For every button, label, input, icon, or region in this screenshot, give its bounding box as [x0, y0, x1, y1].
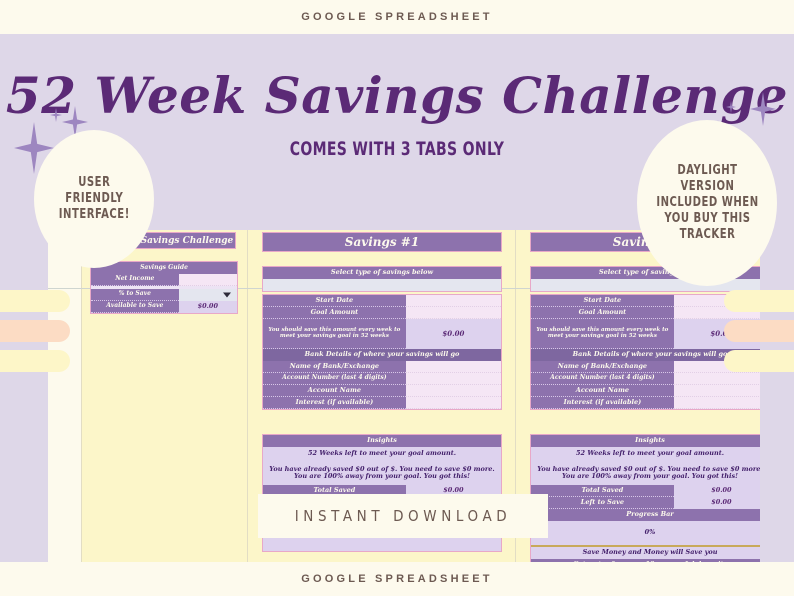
page-subtitle: COMES WITH 3 TABS ONLY	[71, 138, 722, 160]
table-row: You have already saved $0 out of $. You …	[531, 461, 760, 485]
instant-download-label: INSTANT DOWNLOAD	[295, 507, 512, 525]
savings-1-type-select[interactable]	[263, 279, 501, 291]
savings-2-insights-header: Insights	[531, 435, 760, 447]
product-listing-image: 52 Week Savings Challenge Savings Guide …	[0, 0, 794, 596]
savings-2-insights-table: Insights 52 Weeks left to meet your goal…	[530, 434, 760, 562]
table-row: Interest (if available)	[531, 397, 760, 409]
table-row: Progress Bar	[531, 509, 760, 521]
savings-2-progress-value: 0%	[531, 521, 760, 545]
savings-1-row-label-0: Start Date	[263, 295, 406, 307]
savings-1-row-value-0[interactable]	[406, 295, 501, 307]
decor-pill-right-2	[724, 320, 794, 342]
table-row: Goal Amount	[531, 307, 760, 319]
table-row: 52 Weeks left to meet your goal amount.	[531, 447, 760, 461]
guide-row-value-0[interactable]	[179, 274, 237, 286]
left-margin-lavender	[0, 230, 48, 562]
table-row: You have already saved $0 out of $. You …	[263, 461, 501, 485]
savings-1-row-value-1[interactable]	[406, 307, 501, 319]
savings-1-bank-label-1: Account Number (last 4 digits)	[263, 373, 406, 385]
savings-2-left-to-save-label: Left to Save	[531, 497, 674, 509]
savings-1-detail-table: Start Date Goal Amount You should save t…	[262, 294, 502, 410]
savings-1-bank-value-2[interactable]	[406, 385, 501, 397]
guide-row-label-2: Available to Save	[91, 301, 179, 313]
table-row: 52 Weeks left to meet your goal amount.	[263, 447, 501, 461]
savings-1-select-prompt: Select type of savings below	[263, 267, 501, 279]
savings-2-bank-label-2: Account Name	[531, 385, 674, 397]
bottom-band: GOOGLE SPREADSHEET	[0, 562, 794, 596]
table-row: Interest (if available)	[263, 397, 501, 409]
badge-user-friendly-text: USER FRIENDLY INTERFACE!	[58, 175, 129, 223]
top-band: GOOGLE SPREADSHEET	[0, 0, 794, 34]
savings-1-bank-label-2: Account Name	[263, 385, 406, 397]
bottom-band-label: GOOGLE SPREADSHEET	[301, 573, 492, 585]
savings-2-motivation: Save Money and Money will Save you	[531, 547, 760, 559]
guide-table: Savings Guide Net Income % to Save Avail…	[90, 261, 238, 314]
guide-row-label-1: % to Save	[91, 289, 179, 301]
savings-1-bank-value-1[interactable]	[406, 373, 501, 385]
badge-daylight-version: DAYLIGHT VERSION INCLUDED WHEN YOU BUY T…	[637, 120, 777, 286]
savings-2-left-to-save-value: $0.00	[674, 497, 760, 509]
savings-1-select-table: Select type of savings below	[262, 266, 502, 292]
table-row: Available to Save $0.00	[91, 301, 237, 313]
savings-panel-1-title: Savings #1	[262, 232, 502, 252]
savings-2-bank-value-3[interactable]	[674, 397, 760, 409]
savings-2-insight-line-1: 52 Weeks left to meet your goal amount.	[531, 447, 760, 461]
sheet-gridline-v2	[247, 230, 248, 562]
table-row: Goal Amount	[263, 307, 501, 319]
table-row: Total Saved $0.00	[531, 485, 760, 497]
savings-2-total-saved-value: $0.00	[674, 485, 760, 497]
instant-download-banner: INSTANT DOWNLOAD	[258, 494, 548, 538]
savings-2-bank-label-3: Interest (if available)	[531, 397, 674, 409]
table-row: Insights	[531, 435, 760, 447]
savings-2-bank-label-1: Account Number (last 4 digits)	[531, 373, 674, 385]
badge-user-friendly: USER FRIENDLY INTERFACE!	[34, 130, 154, 268]
decor-pill-right-3	[724, 350, 794, 372]
savings-1-insights-header: Insights	[263, 435, 501, 447]
savings-2-bank-value-1[interactable]	[674, 373, 760, 385]
savings-2-bank-value-2[interactable]	[674, 385, 760, 397]
savings-1-bank-value-0[interactable]	[406, 361, 501, 373]
table-row: Net Income	[91, 274, 237, 286]
decor-pill-right-1	[724, 290, 794, 312]
table-row: Account Number (last 4 digits)	[263, 373, 501, 385]
table-row: Left to Save $0.00	[531, 497, 760, 509]
table-row: 0%	[531, 521, 760, 545]
savings-1-bank-label-3: Interest (if available)	[263, 397, 406, 409]
right-margin-lavender	[760, 230, 794, 562]
table-row: Bank Details of where your savings will …	[263, 349, 501, 361]
savings-1-row-value-2: $0.00	[406, 319, 501, 349]
table-row: % to Save	[91, 289, 237, 301]
chevron-down-icon	[223, 293, 231, 298]
badge-daylight-version-text: DAYLIGHT VERSION INCLUDED WHEN YOU BUY T…	[656, 163, 758, 242]
savings-2-detail-table: Start Date Goal Amount You should save t…	[530, 294, 760, 410]
table-row: You should save this amount every week t…	[263, 319, 501, 349]
table-row: Account Name	[263, 385, 501, 397]
savings-1-insight-line-1: 52 Weeks left to meet your goal amount.	[263, 447, 501, 461]
guide-row-label-0: Net Income	[91, 274, 179, 286]
table-row: Account Number (last 4 digits)	[531, 373, 760, 385]
savings-2-progress-header: Progress Bar	[531, 509, 760, 521]
top-band-label: GOOGLE SPREADSHEET	[301, 11, 492, 23]
sheet-gridline-v1	[81, 230, 82, 562]
page-title: 52 Week Savings Challenge	[0, 66, 794, 125]
savings-2-insight-line-2: You have already saved $0 out of $. You …	[531, 461, 760, 485]
table-row	[263, 279, 501, 291]
table-row: Start Date	[263, 295, 501, 307]
savings-1-bank-header: Bank Details of where your savings will …	[263, 349, 501, 361]
savings-2-row-label-0: Start Date	[531, 295, 674, 307]
savings-1-row-label-1: Goal Amount	[263, 307, 406, 319]
decor-pill-left-2	[0, 320, 70, 342]
savings-2-row-label-1: Goal Amount	[531, 307, 674, 319]
savings-2-total-saved-label: Total Saved	[531, 485, 674, 497]
table-row: Insights	[263, 435, 501, 447]
table-row: Save Money and Money will Save you	[531, 547, 760, 559]
savings-2-row-label-2: You should save this amount every week t…	[531, 319, 674, 349]
table-row: Name of Bank/Exchange	[263, 361, 501, 373]
decor-pill-left-1	[0, 290, 70, 312]
table-row: Account Name	[531, 385, 760, 397]
savings-1-insight-line-2: You have already saved $0 out of $. You …	[263, 461, 501, 485]
decor-pill-left-3	[0, 350, 70, 372]
savings-2-bank-label-0: Name of Bank/Exchange	[531, 361, 674, 373]
savings-1-row-label-2: You should save this amount every week t…	[263, 319, 406, 349]
savings-1-bank-label-0: Name of Bank/Exchange	[263, 361, 406, 373]
savings-1-bank-value-3[interactable]	[406, 397, 501, 409]
guide-row-value-2: $0.00	[179, 301, 237, 313]
table-row: Select type of savings below	[263, 267, 501, 279]
percent-to-save-dropdown[interactable]	[179, 289, 237, 301]
